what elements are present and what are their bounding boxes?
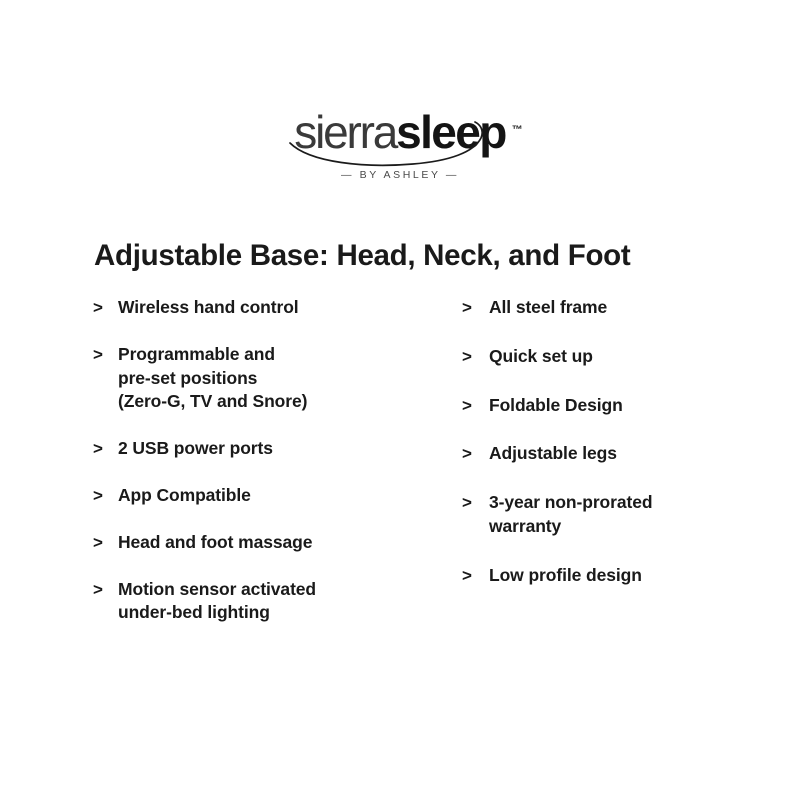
- feature-label: Motion sensor activated under-bed lighti…: [118, 578, 433, 626]
- chevron-right-icon: >: [93, 343, 118, 366]
- chevron-right-icon: >: [93, 437, 118, 460]
- feature-label: 3-year non-prorated warranty: [489, 491, 762, 539]
- feature-label: App Compatible: [118, 484, 433, 508]
- chevron-right-icon: >: [462, 345, 489, 368]
- feature-item: > Head and foot massage: [93, 531, 433, 555]
- page-title: Adjustable Base: Head, Neck, and Foot: [94, 239, 734, 273]
- feature-item: > Programmable and pre-set positions (Ze…: [93, 343, 433, 414]
- feature-label: Low profile design: [489, 564, 762, 588]
- feature-label: All steel frame: [489, 296, 762, 320]
- chevron-right-icon: >: [462, 564, 489, 587]
- chevron-right-icon: >: [462, 394, 489, 417]
- brand-byline: — BY ASHLEY —: [0, 169, 800, 181]
- brand-logo-wordmark: sierrasleep ™: [294, 108, 505, 156]
- feature-label: Adjustable legs: [489, 442, 762, 466]
- feature-item: > Quick set up: [462, 345, 762, 369]
- feature-label: 2 USB power ports: [118, 437, 433, 461]
- feature-item: > App Compatible: [93, 484, 433, 508]
- feature-label: Head and foot massage: [118, 531, 433, 555]
- chevron-right-icon: >: [462, 296, 489, 319]
- feature-item: > All steel frame: [462, 296, 762, 320]
- feature-label: Quick set up: [489, 345, 762, 369]
- chevron-right-icon: >: [462, 491, 489, 514]
- feature-column-left: > Wireless hand control > Programmable a…: [93, 296, 433, 648]
- feature-label: Foldable Design: [489, 394, 762, 418]
- feature-item: > 3-year non-prorated warranty: [462, 491, 762, 539]
- feature-item: > 2 USB power ports: [93, 437, 433, 461]
- feature-item: > Foldable Design: [462, 394, 762, 418]
- feature-item: > Adjustable legs: [462, 442, 762, 466]
- feature-item: > Low profile design: [462, 564, 762, 588]
- chevron-right-icon: >: [93, 578, 118, 601]
- feature-label: Wireless hand control: [118, 296, 433, 320]
- brand-name-light: sierra: [294, 106, 396, 158]
- chevron-right-icon: >: [93, 296, 118, 319]
- chevron-right-icon: >: [462, 442, 489, 465]
- feature-column-right: > All steel frame > Quick set up > Folda…: [462, 296, 762, 613]
- product-feature-sheet: sierrasleep ™ — BY ASHLEY — Adjustable B…: [0, 0, 800, 800]
- feature-item: > Motion sensor activated under-bed ligh…: [93, 578, 433, 626]
- trademark-icon: ™: [512, 106, 523, 154]
- feature-label: Programmable and pre-set positions (Zero…: [118, 343, 433, 414]
- feature-item: > Wireless hand control: [93, 296, 433, 320]
- chevron-right-icon: >: [93, 531, 118, 554]
- brand-logo: sierrasleep ™ — BY ASHLEY —: [0, 108, 800, 190]
- brand-name-bold: sleep: [396, 106, 506, 158]
- chevron-right-icon: >: [93, 484, 118, 507]
